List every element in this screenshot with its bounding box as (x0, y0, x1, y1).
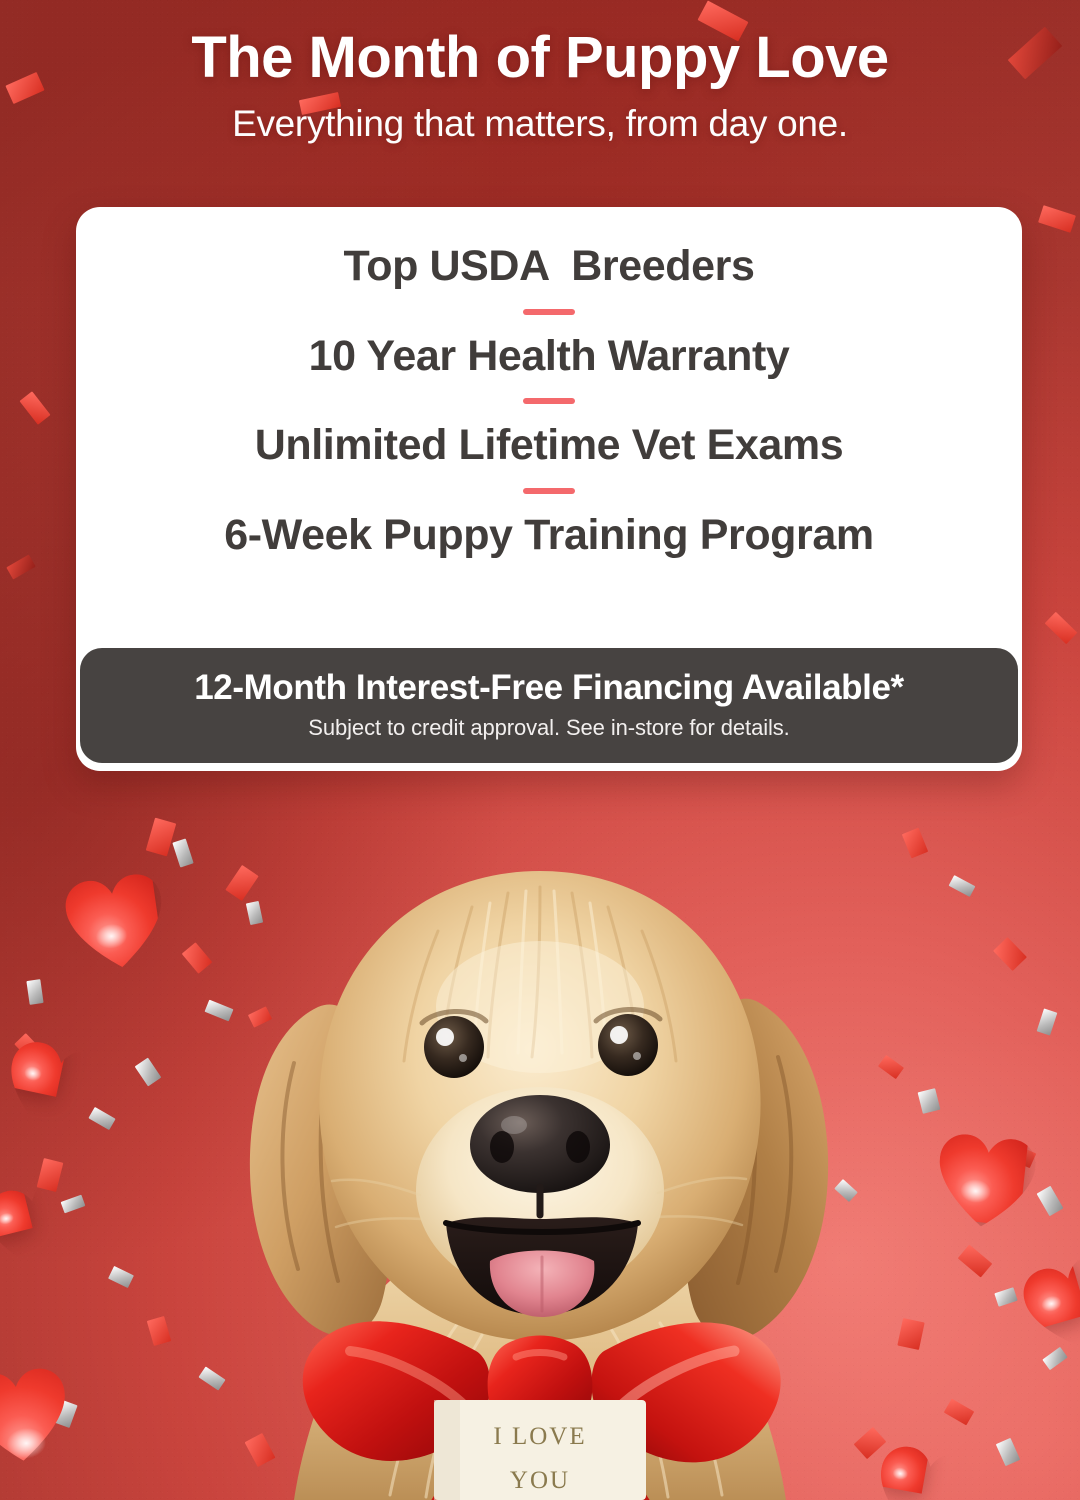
heart-ornament (0, 1362, 92, 1489)
offer-card: Top USDA Breeders 10 Year Health Warrant… (76, 207, 1022, 771)
page-subtitle: Everything that matters, from day one. (0, 103, 1080, 145)
page-title: The Month of Puppy Love (0, 28, 1080, 89)
promo-poster: I LOVE YOU The Month of Puppy Love Every… (0, 0, 1080, 1500)
feature-divider (523, 488, 575, 494)
feature-item: 10 Year Health Warranty (309, 331, 790, 382)
heart-ornament (60, 870, 164, 974)
gift-tag-text-layer: I LOVE YOU (400, 1400, 680, 1500)
heart-ornament (5, 1035, 67, 1097)
feature-item: Unlimited Lifetime Vet Exams (255, 420, 844, 471)
feature-divider (523, 398, 575, 404)
gift-tag-line-2: YOU (510, 1467, 570, 1494)
headline-block: The Month of Puppy Love Everything that … (0, 28, 1080, 145)
gift-tag-line-1: I LOVE (493, 1423, 586, 1450)
financing-title: 12-Month Interest-Free Financing Availab… (104, 668, 994, 708)
financing-banner: 12-Month Interest-Free Financing Availab… (80, 648, 1018, 763)
feature-item: 6-Week Puppy Training Program (224, 510, 873, 561)
feature-list: Top USDA Breeders 10 Year Health Warrant… (76, 207, 1022, 648)
feature-divider (523, 309, 575, 315)
puppy-photo (190, 795, 890, 1500)
financing-disclaimer: Subject to credit approval. See in-store… (104, 715, 994, 741)
heart-ornament (932, 1130, 1029, 1227)
feature-item: Top USDA Breeders (344, 241, 755, 292)
